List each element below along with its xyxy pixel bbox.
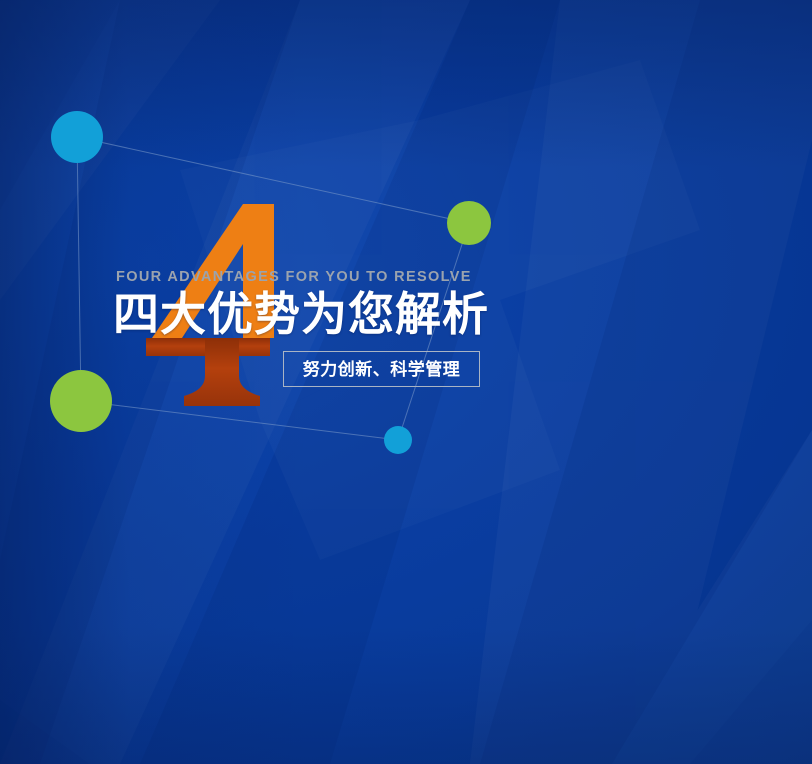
tagline-text: 努力创新、科学管理 xyxy=(303,361,461,378)
node-cyan-top-left xyxy=(51,111,103,163)
link-cyan-top-to-green-bottom xyxy=(77,137,81,401)
headline-group: FOUR ADVANTAGES FOR YOU TO RESOLVE 四大优势为… xyxy=(113,270,753,338)
tagline-badge: 努力创新、科学管理 xyxy=(283,351,480,387)
node-green-bottom-left xyxy=(50,370,112,432)
eyebrow-text: FOUR ADVANTAGES FOR YOU TO RESOLVE xyxy=(116,270,753,285)
promo-banner: FOUR ADVANTAGES FOR YOU TO RESOLVE 四大优势为… xyxy=(0,0,812,764)
numeral-four-base xyxy=(146,338,270,406)
node-cyan-bottom xyxy=(384,426,412,454)
page-title: 四大优势为您解析 xyxy=(113,291,753,339)
node-green-right xyxy=(447,201,491,245)
